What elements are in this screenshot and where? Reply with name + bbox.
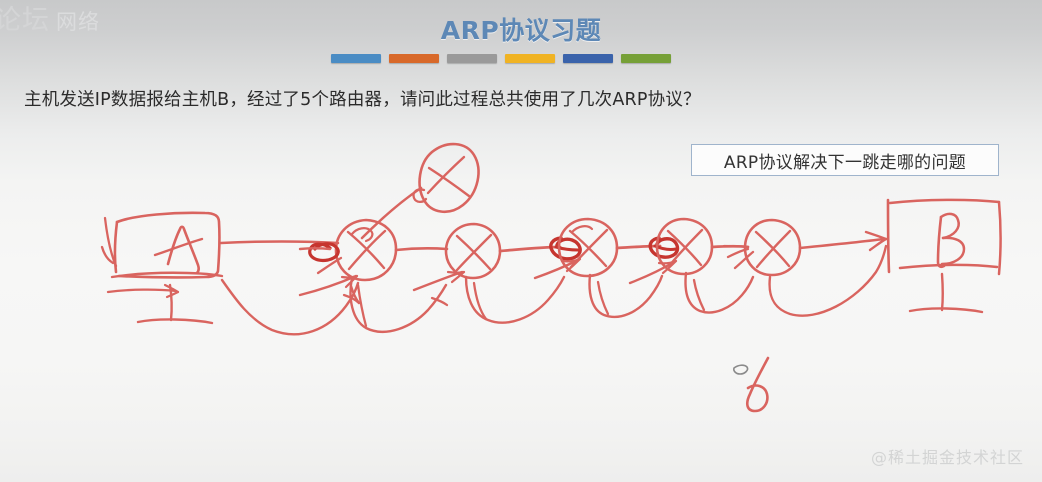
arrow-a-out [108,290,176,292]
host-a-box [102,213,222,278]
annotation-note-box: ARP协议解决下一跳走哪的问题 [691,144,999,176]
router-3 [559,219,617,276]
marker-blob-r1 [310,244,338,261]
link-r1-rtop [362,188,421,238]
handwritten-diagram [0,0,1042,482]
curve-r2-r3 [466,277,564,323]
arrow-into-r4 [630,262,674,283]
router-1 [336,220,396,280]
host-b-label-ink [938,214,964,267]
annotation-note-text: ARP协议解决下一跳走哪的问题 [724,148,966,173]
arrow-into-r3 [535,260,578,278]
curve-a-r1 [222,280,358,334]
curve-r4-r5 [686,273,753,313]
slide-canvas: 论坛网络 ARP协议习题 主机发送IP数据报给主机B，经过了5个路由器，请问此过… [0,0,1042,482]
curve-r5-b [770,246,886,316]
router-2 [446,224,500,278]
arrow-r5-b-head-1 [866,232,886,239]
router-top [414,144,479,212]
answer-ink [747,358,768,411]
link-r5-b [800,239,884,248]
marker-blob-r4 [650,238,677,257]
answer-gray-mark [734,365,748,374]
router-5 [745,220,800,275]
site-watermark: @稀土掘金技术社区 [871,444,1024,468]
link-r1-r2 [396,248,447,250]
host-b-ground-icon [910,274,982,312]
host-a-label-ink [155,227,202,273]
